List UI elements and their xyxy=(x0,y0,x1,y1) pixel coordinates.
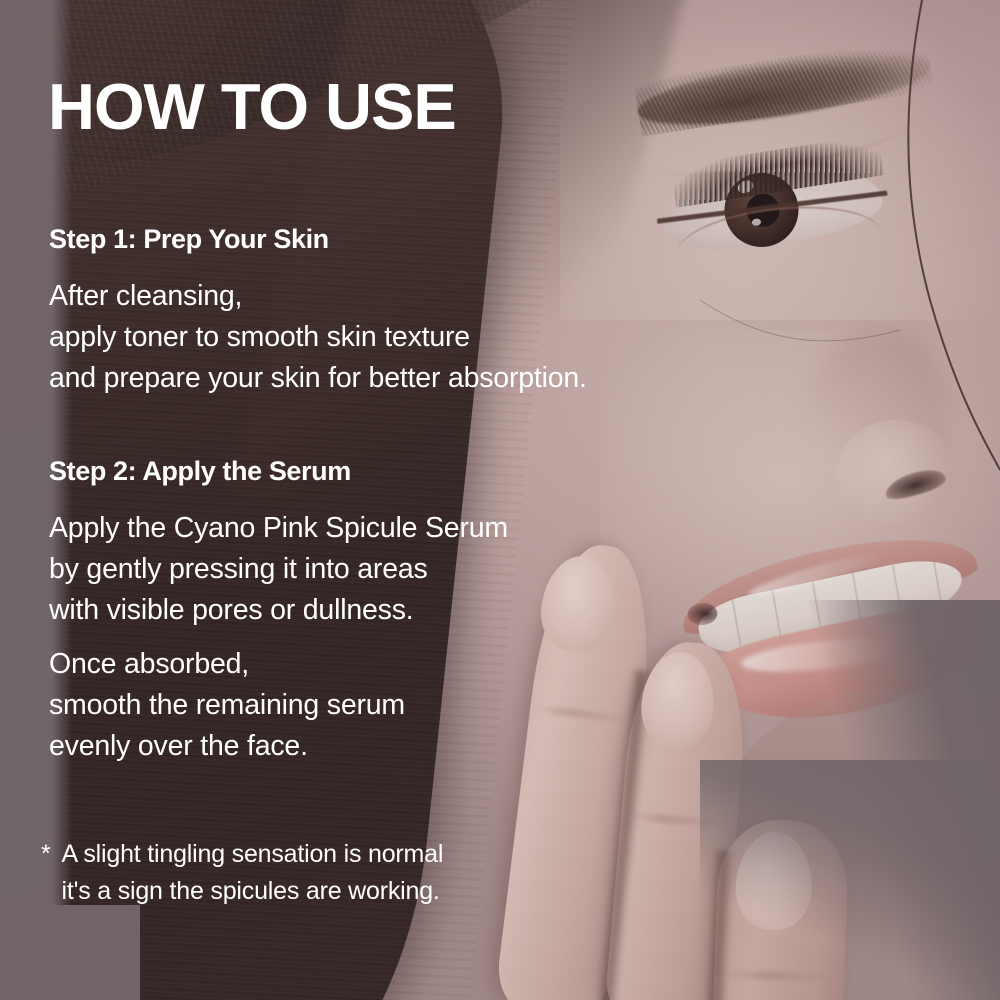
step-1-body: After cleansing, apply toner to smooth s… xyxy=(49,276,587,399)
page-title: HOW TO USE xyxy=(48,74,456,139)
how-to-use-slide: HOW TO USE Step 1: Prep Your Skin After … xyxy=(0,0,1000,1000)
step-1-heading: Step 1: Prep Your Skin xyxy=(49,224,329,255)
step-2-heading: Step 2: Apply the Serum xyxy=(49,456,351,487)
text-content: HOW TO USE Step 1: Prep Your Skin After … xyxy=(0,0,1000,1000)
footnote: * A slight tingling sensation is normal … xyxy=(41,836,443,910)
step-2-body: Apply the Cyano Pink Spicule Serum by ge… xyxy=(49,508,508,631)
footnote-text: A slight tingling sensation is normal it… xyxy=(62,836,444,910)
footnote-marker: * xyxy=(41,836,51,910)
step-2-body-secondary: Once absorbed, smooth the remaining seru… xyxy=(49,644,405,767)
